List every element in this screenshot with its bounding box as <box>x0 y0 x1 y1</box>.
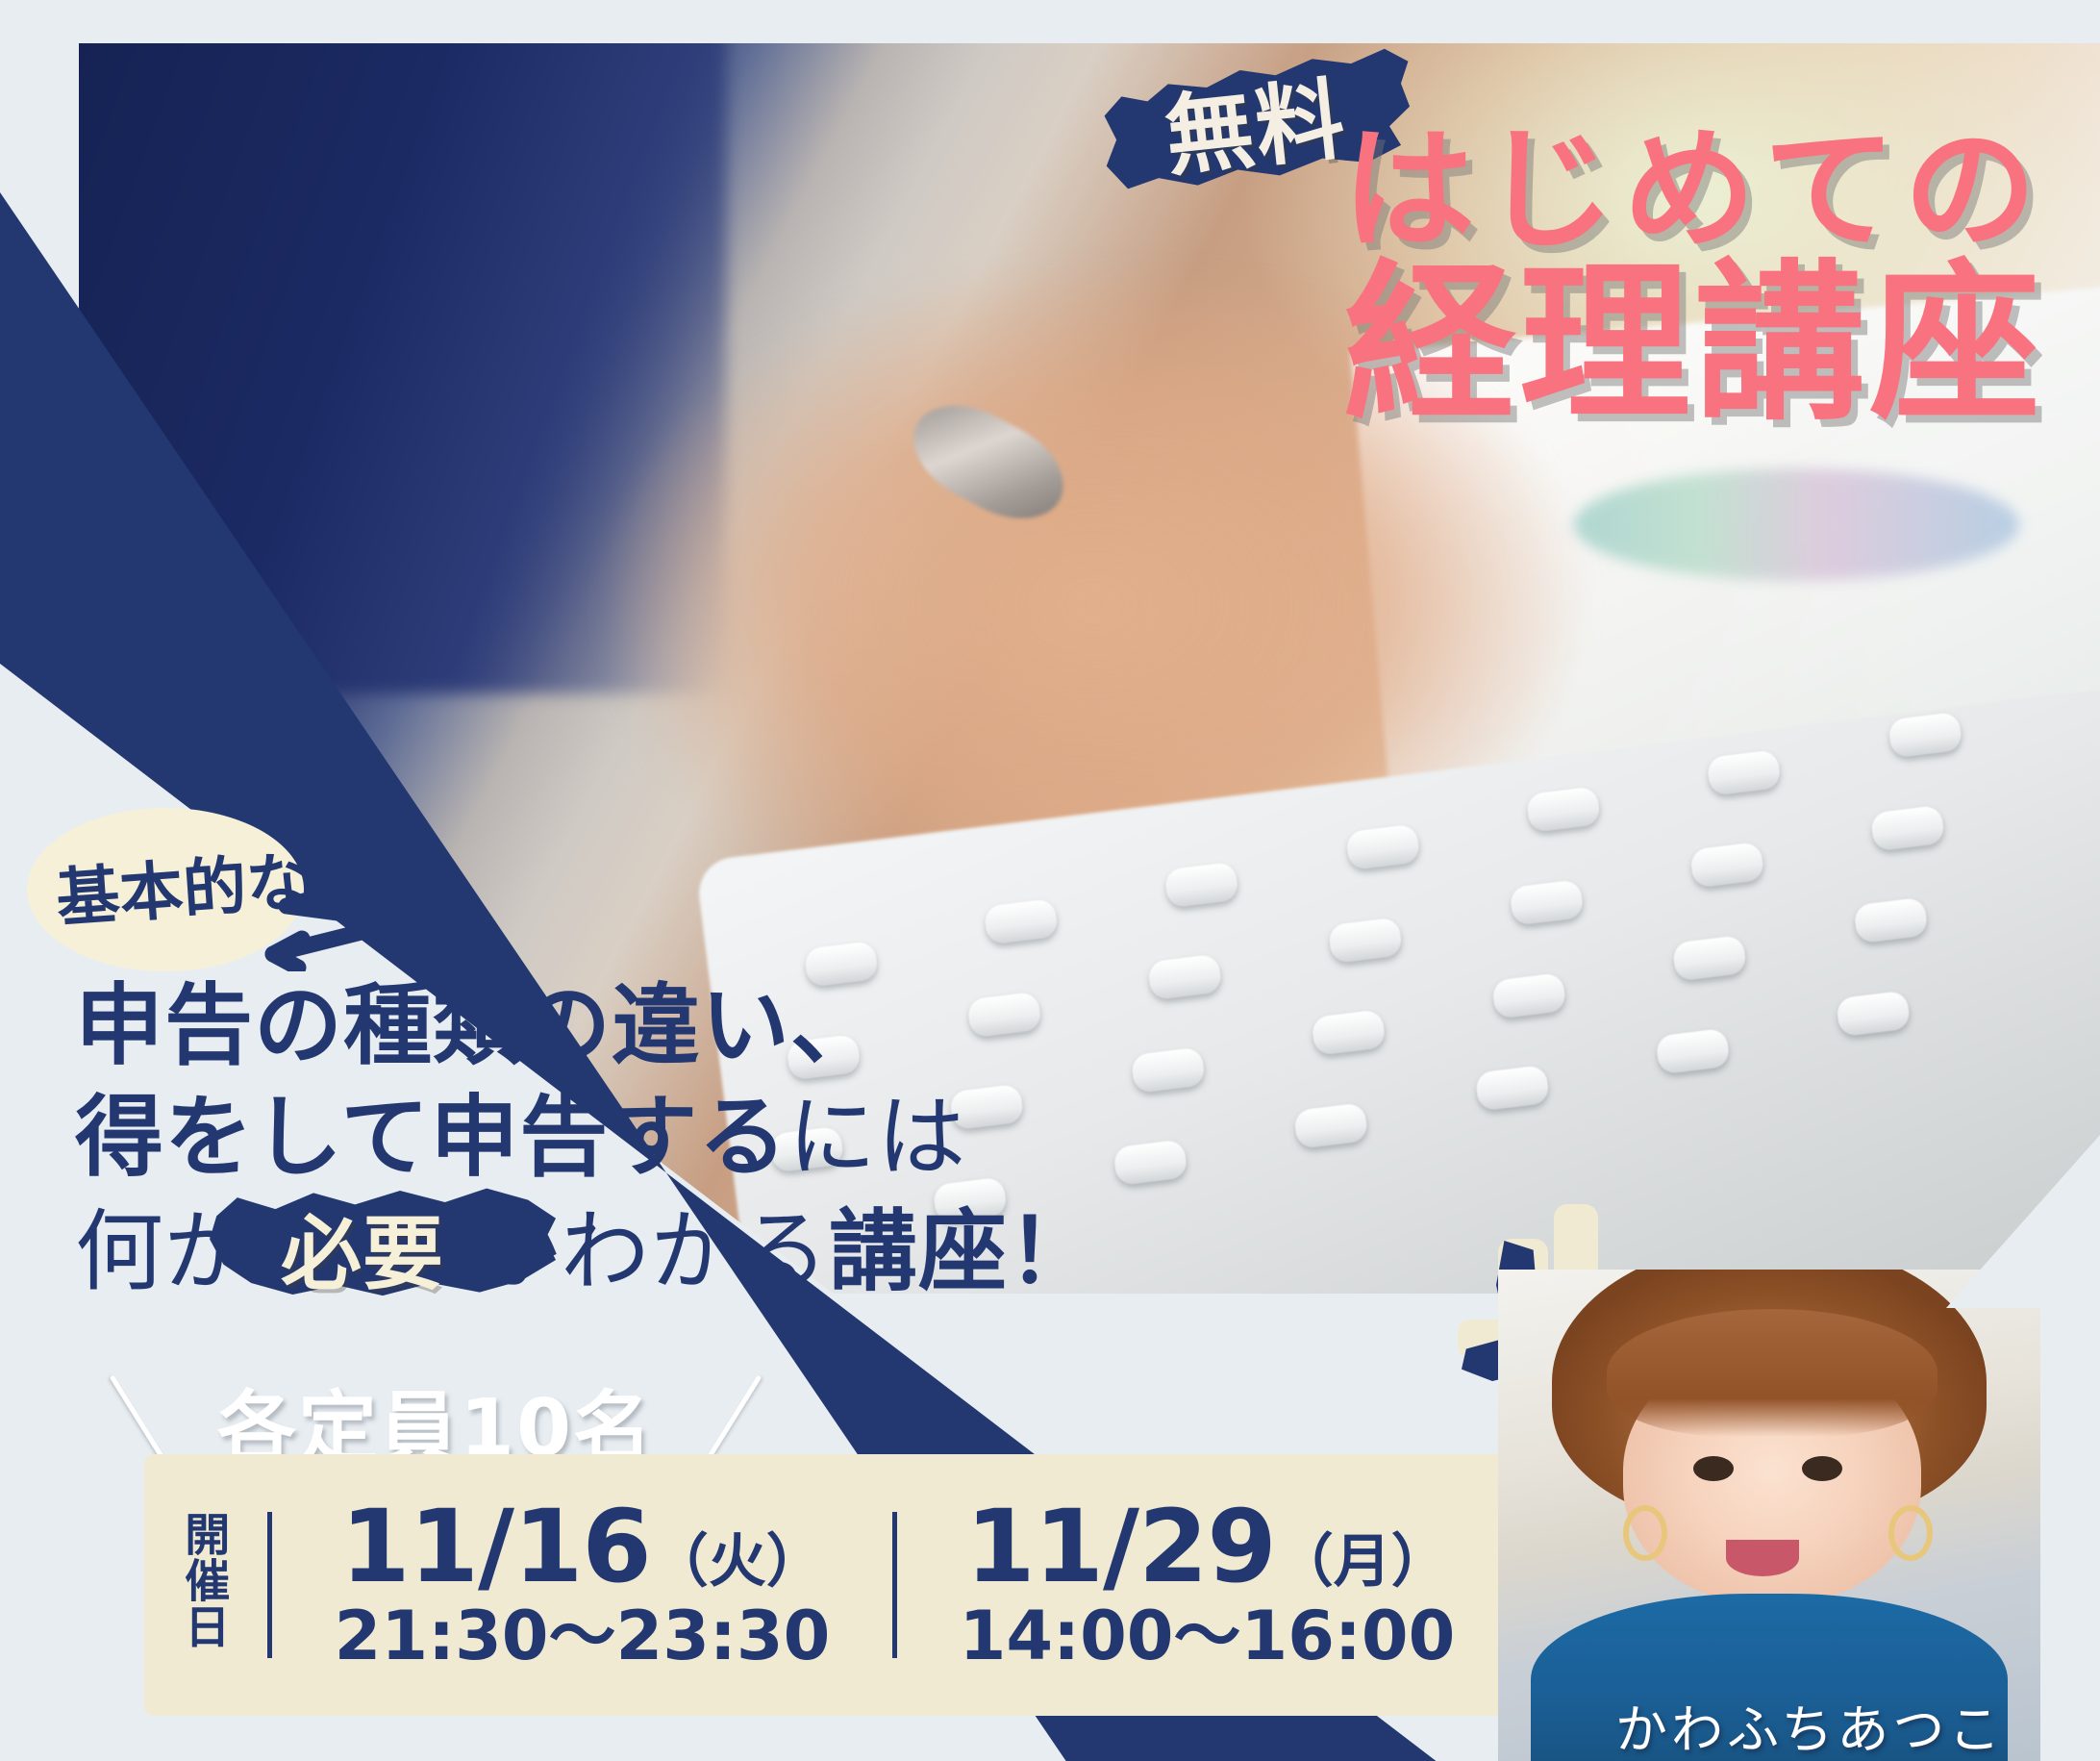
presenter-earring-left <box>1623 1505 1667 1561</box>
body-copy-line-2-thin: には <box>787 1086 966 1189</box>
highlight-need-label: 必要 <box>260 1207 465 1301</box>
body-copy-line-2-bold: 得をして申告する <box>75 1086 787 1189</box>
date-entry-2-dow: （月） <box>1276 1528 1449 1596</box>
presenter-mouth <box>1726 1540 1799 1576</box>
title-line-1: はじめての <box>1342 125 2044 255</box>
date-entry-2: 11/29（月） 14:00〜16:00 <box>905 1497 1510 1673</box>
date-panel: 開催日 11/16（火） 21:30〜23:30 11/29（月） 14:00〜… <box>144 1454 1510 1716</box>
poster-root: 無料 はじめての 経理講座 基本的な 申告の種類の違い、 得をして申告するには … <box>0 0 2100 1761</box>
date-divider-2 <box>892 1512 897 1658</box>
date-entry-1-date-row: 11/16（火） <box>280 1497 885 1597</box>
page-title: はじめての 経理講座 <box>1342 125 2044 429</box>
date-entry-2-time: 14:00〜16:00 <box>905 1598 1510 1673</box>
highlight-need: 必要 <box>260 1199 465 1305</box>
date-entry-1-dow: （火） <box>651 1528 824 1596</box>
presenter-eye-right <box>1802 1456 1842 1481</box>
date-entry-1-time: 21:30〜23:30 <box>280 1598 885 1673</box>
body-copy-line-2: 得をして申告するには <box>75 1085 1097 1191</box>
zigzag-arrow-icon <box>260 846 433 971</box>
title-line-2: 経理講座 <box>1342 261 2044 428</box>
date-entry-2-date-row: 11/29（月） <box>905 1497 1510 1597</box>
presenter-earring-right <box>1888 1505 1933 1561</box>
presenter-name: かわふちあつこ <box>1615 1687 2004 1761</box>
body-copy: 申告の種類の違い、 得をして申告するには 何が 必要 かわかる 講座！ <box>75 973 1097 1305</box>
date-entry-2-date: 11/29 <box>965 1488 1275 1605</box>
body-copy-line-3: 何が 必要 かわかる 講座！ <box>75 1199 1097 1305</box>
body-copy-line-3-c: 講座！ <box>829 1199 1097 1305</box>
date-panel-label: 開催日 <box>144 1511 260 1658</box>
date-entry-1-date: 11/16 <box>340 1488 650 1605</box>
date-panel-label-text: 開催日 <box>179 1511 225 1649</box>
presenter-bangs <box>1607 1309 1937 1437</box>
presenter-eye-left <box>1693 1456 1734 1481</box>
date-entry-1: 11/16（火） 21:30〜23:30 <box>280 1497 885 1673</box>
body-copy-line-1: 申告の種類の違い、 <box>75 973 1097 1079</box>
date-divider-1 <box>267 1512 272 1658</box>
